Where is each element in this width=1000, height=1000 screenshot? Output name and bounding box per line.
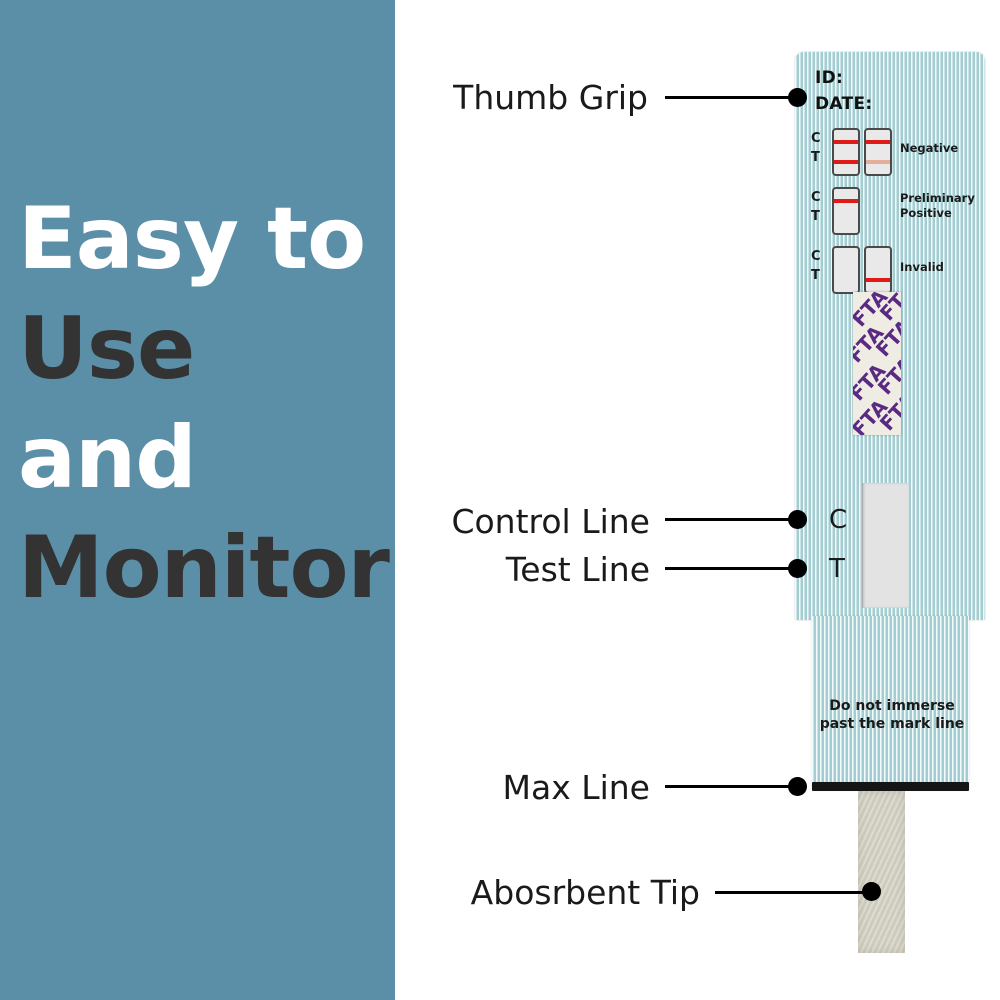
test-line-marker: T — [829, 554, 845, 584]
test-strip: ID: DATE: C T Negative C T — [795, 52, 985, 790]
legend-label-negative: Negative — [900, 141, 958, 155]
control-band — [866, 140, 890, 144]
legend-label-preliminary: Preliminary — [900, 191, 975, 205]
marketing-panel: Easy to Use and Monitor — [0, 0, 395, 1000]
legend-row-3-ct: C T — [811, 248, 821, 286]
legend-row-3-t: T — [811, 267, 821, 286]
control-line-marker: C — [829, 505, 847, 535]
legend-cassette-preliminary-positive — [832, 187, 860, 235]
legend-cassette-invalid-b — [864, 246, 892, 294]
result-window — [862, 483, 909, 608]
test-band — [834, 160, 858, 164]
legend-cassette-negative-b — [864, 128, 892, 176]
legend-row-1-ct: C T — [811, 130, 821, 168]
headline-line-3: and — [18, 415, 398, 503]
max-line-marker — [812, 782, 969, 791]
leader-dot-thumb-grip — [788, 88, 807, 107]
leader-line-thumb-grip — [665, 96, 795, 99]
test-band — [866, 278, 890, 282]
immerse-warning-line-2: past the mark line — [817, 715, 967, 733]
leader-dot-absorbent-tip — [862, 882, 881, 901]
leader-line-test-line — [665, 567, 795, 570]
leader-dot-max-line — [788, 777, 807, 796]
legend-row-2-t: T — [811, 208, 821, 227]
annotation-label-test-line: Test Line — [330, 550, 650, 589]
legend-row-2-ct: C T — [811, 189, 821, 227]
control-band — [834, 199, 858, 203]
annotation-label-thumb-grip: Thumb Grip — [418, 78, 648, 117]
legend-row-3-c: C — [811, 248, 821, 267]
leader-dot-test-line — [788, 559, 807, 578]
strip-date-label: DATE: — [815, 94, 872, 114]
legend-row-2-c: C — [811, 189, 821, 208]
annotation-label-max-line: Max Line — [330, 768, 650, 807]
leader-line-max-line — [665, 785, 795, 788]
legend-cassette-negative-a — [832, 128, 860, 176]
annotation-label-control-line: Control Line — [330, 502, 650, 541]
fta-security-sticker: FTA FTA FTA FTA FTA FTA FTA FTA — [853, 292, 901, 435]
immerse-warning: Do not immerse past the mark line — [817, 697, 967, 733]
headline-line-2: Use — [18, 306, 398, 394]
legend-label-positive: Positive — [900, 206, 952, 220]
legend-cassette-invalid-a — [832, 246, 860, 294]
test-band-faint — [866, 160, 890, 164]
legend-label-invalid: Invalid — [900, 260, 944, 274]
strip-id-label: ID: — [815, 68, 843, 88]
headline-line-1: Easy to — [18, 196, 398, 284]
leader-line-control-line — [665, 518, 795, 521]
legend-row-1-t: T — [811, 149, 821, 168]
leader-dot-control-line — [788, 510, 807, 529]
legend-row-1-c: C — [811, 130, 821, 149]
leader-line-absorbent-tip — [715, 891, 865, 894]
poster-canvas: Easy to Use and Monitor ID: DATE: C T — [0, 0, 1000, 1000]
absorbent-tip — [858, 791, 905, 953]
annotation-label-absorbent-tip: Abosrbent Tip — [300, 873, 700, 912]
immerse-warning-line-1: Do not immerse — [817, 697, 967, 715]
control-band — [834, 140, 858, 144]
